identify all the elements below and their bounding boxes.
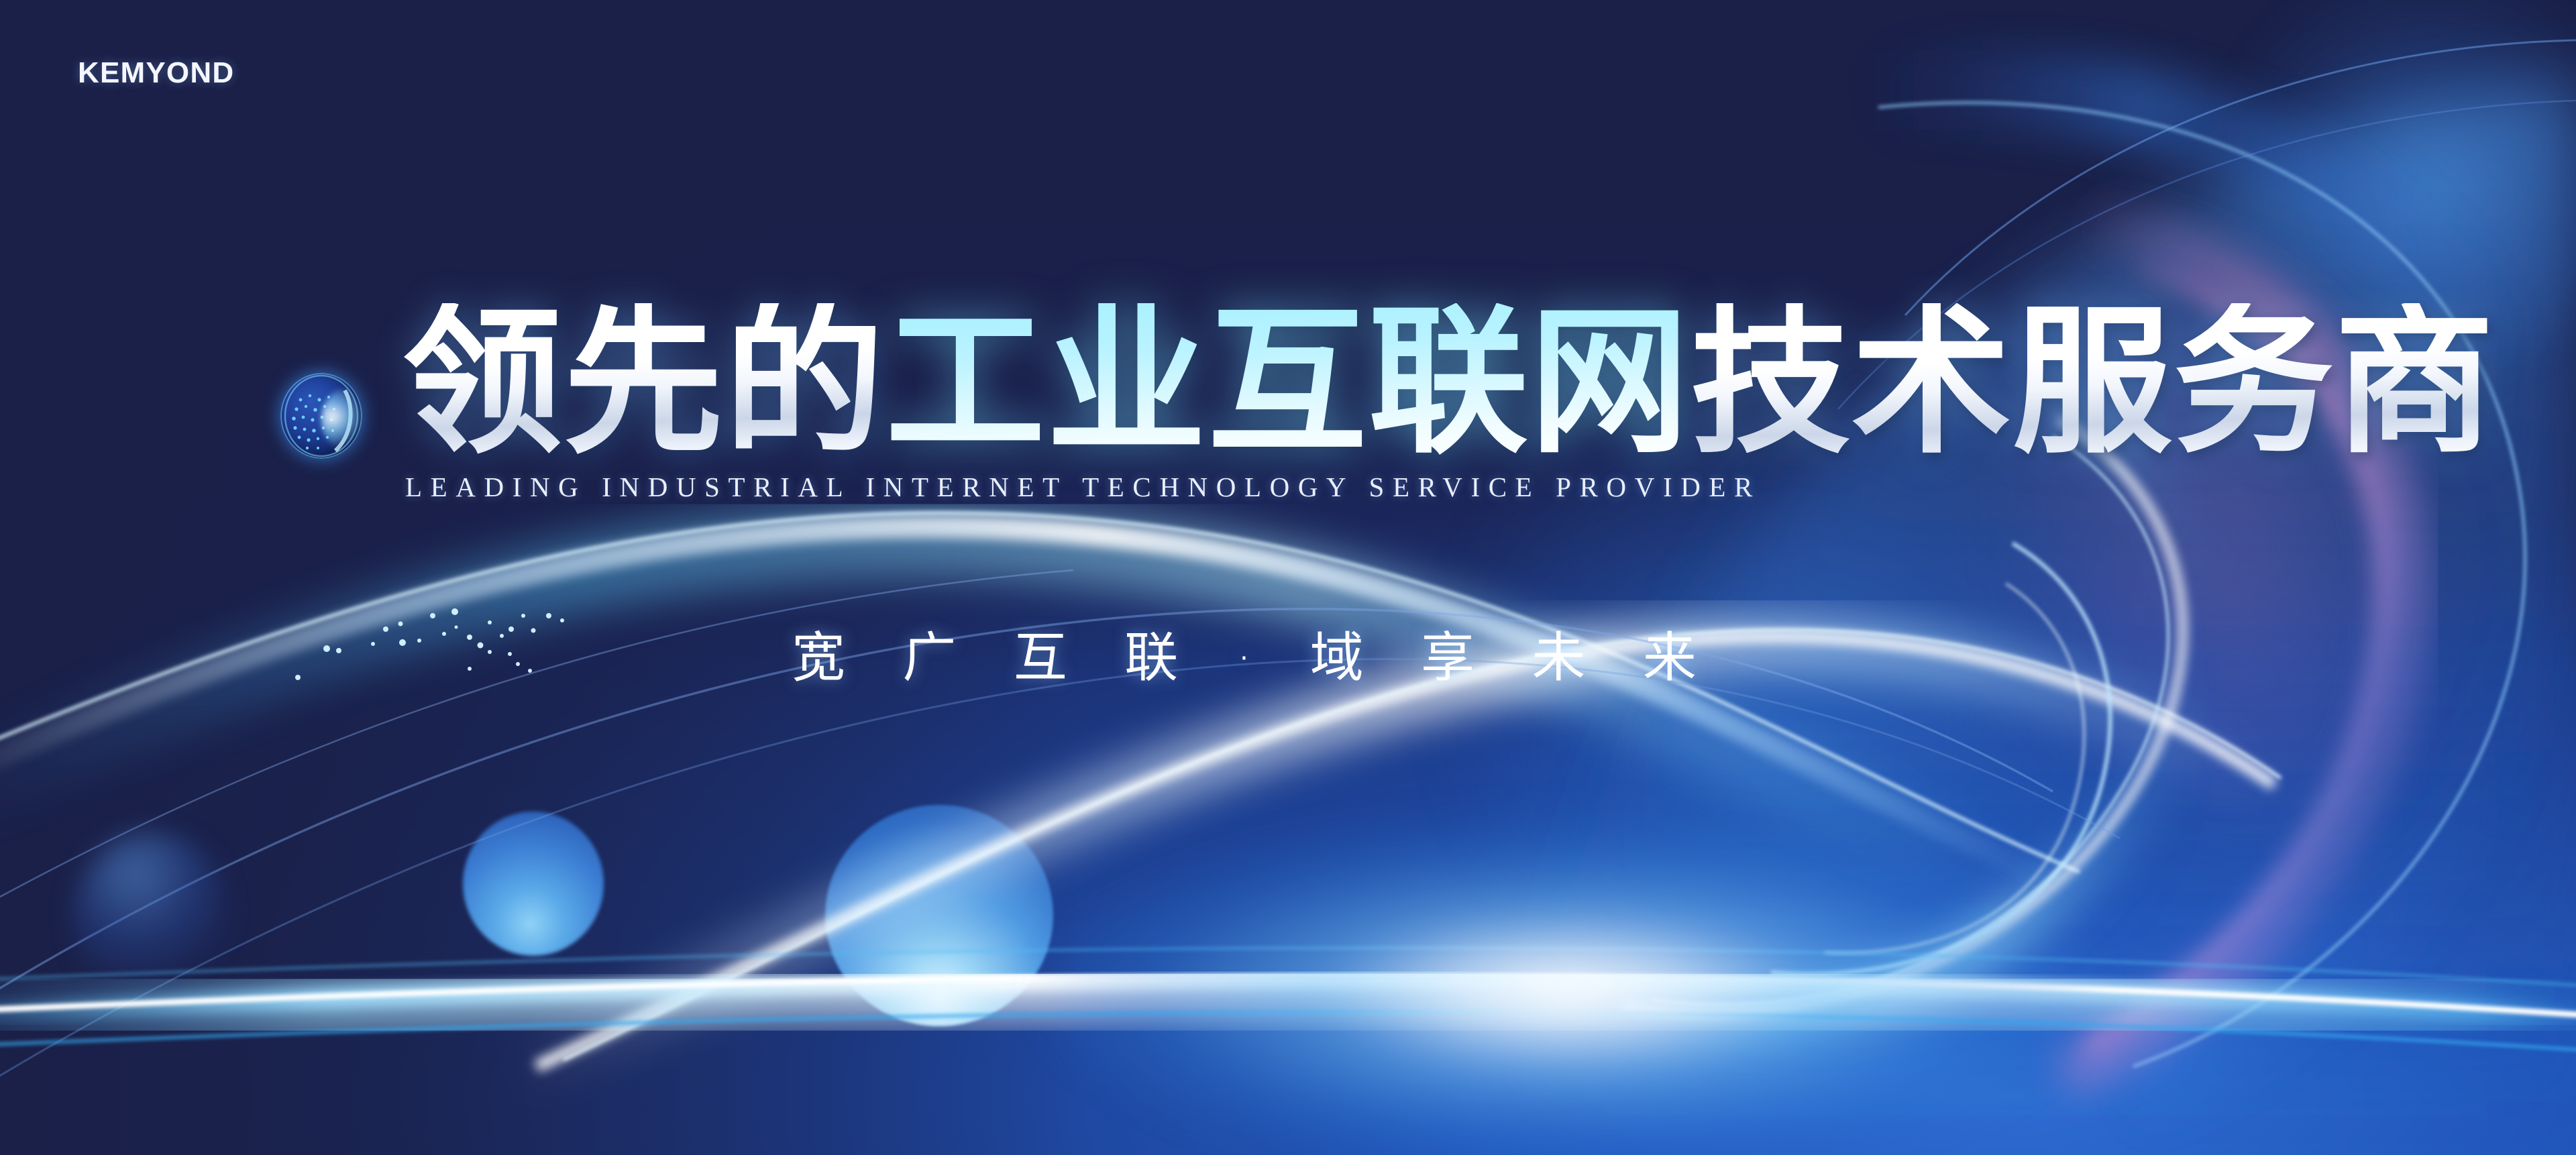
headline-segment-1: 领先的 — [402, 303, 885, 463]
data-globe-icon — [280, 373, 362, 459]
headline-segment-3: 技术服务商 — [1690, 303, 2495, 463]
tagline: 宽 广 互 联 · 域 享 未 来 — [792, 614, 1717, 692]
subtitle-english: LEADING INDUSTRIAL INTERNET TECHNOLOGY S… — [405, 471, 1761, 503]
brand-logo[interactable]: KEMYOND — [78, 56, 234, 90]
headline-segment-2: 工业互联网 — [885, 303, 1690, 463]
globe-rim — [280, 373, 362, 459]
light-ribbons-artwork — [0, 0, 2576, 1155]
banner-canvas: KEMYOND 领先的工业互联网技术服务商 LEADING INDUSTRIAL… — [0, 0, 2576, 1155]
page-title: 领先的工业互联网技术服务商 — [402, 303, 2495, 463]
